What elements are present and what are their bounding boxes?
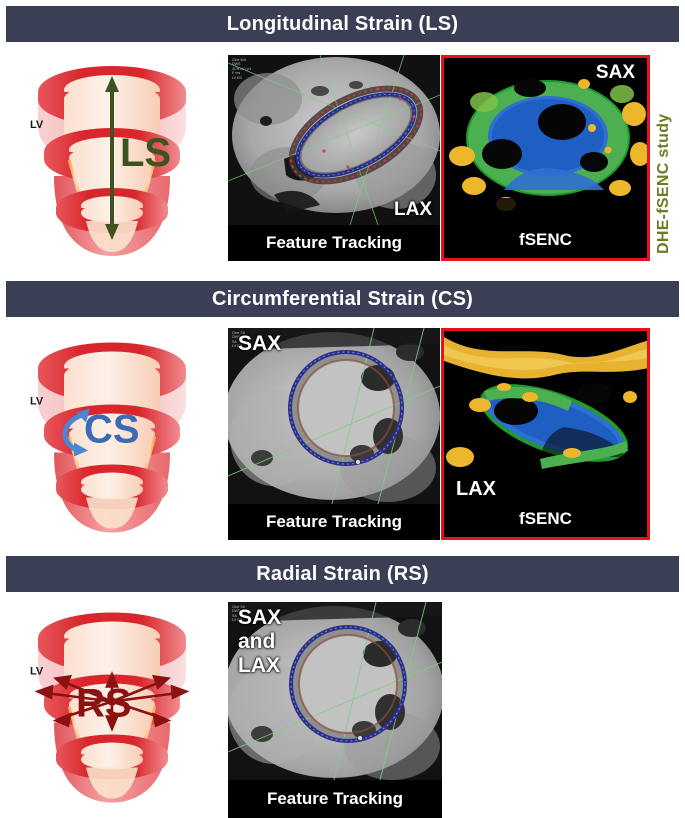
section-header-circumferential: Circumferential Strain (CS) — [6, 281, 679, 317]
dicom-overlay-text: Cine 4ch DWS 4CH LV / p1 P ms LV ED — [232, 58, 251, 80]
panel-caption-label: fSENC — [519, 230, 572, 250]
view-label-lax: LAX — [394, 199, 432, 221]
lv-model-svg: LV LS — [12, 56, 212, 261]
study-tag-label: DHE-fSENC study — [655, 64, 673, 254]
section-circumferential-strain: Circumferential Strain (CS) — [0, 275, 685, 550]
panel-feature-tracking-sax[interactable]: Cine SA DWS SA LV ED SAX Feature Trackin… — [228, 328, 440, 540]
panel-caption-label: Feature Tracking — [267, 789, 403, 809]
view-label-sax: SAX — [238, 332, 281, 356]
panel-fsenc-sax[interactable]: SAX fSENC — [441, 55, 650, 261]
lv-model-svg: LV RS — [12, 600, 212, 810]
strain-abbrev-label: LS — [120, 131, 171, 175]
section-radial-strain: Radial Strain (RS) — [0, 552, 685, 818]
fsenc-image-sax: SAX — [444, 58, 647, 228]
strain-abbrev-label: CS — [84, 408, 140, 452]
section-header-label: Circumferential Strain (CS) — [212, 288, 473, 311]
panel-caption-fsenc: fSENC — [444, 222, 647, 258]
lv-model-svg: LV CS — [12, 330, 212, 540]
panel-caption-feature-tracking: Feature Tracking — [228, 225, 440, 261]
panel-caption-feature-tracking: Feature Tracking — [228, 780, 442, 818]
view-label-lax: LAX — [456, 478, 496, 501]
panel-caption-label: Feature Tracking — [266, 512, 402, 532]
mri-image-lax: Cine 4ch DWS 4CH LV / p1 P ms LV ED LAX — [228, 55, 440, 225]
panel-feature-tracking-lax[interactable]: Cine 4ch DWS 4CH LV / p1 P ms LV ED LAX … — [228, 55, 440, 261]
panel-caption-label: fSENC — [519, 509, 572, 529]
mri-image-sax: Cine SA DWS SA LV ED SAX — [228, 328, 440, 504]
section-header-label: Radial Strain (RS) — [256, 563, 429, 586]
section-longitudinal-strain: Longitudinal Strain (LS) — [0, 0, 685, 272]
panel-caption-feature-tracking: Feature Tracking — [228, 504, 440, 540]
lv-label: LV — [30, 119, 44, 131]
panel-caption-fsenc: fSENC — [444, 501, 647, 537]
panel-caption-label: Feature Tracking — [266, 233, 402, 253]
heart-diagram-radial: LV RS — [12, 600, 212, 810]
panel-feature-tracking-sax-lax[interactable]: Cine SA DWS SA LV ED SAX and LAX Feature… — [228, 602, 442, 818]
heart-diagram-circumferential: LV CS — [12, 330, 212, 540]
strain-abbrev-label: RS — [76, 682, 132, 726]
section-header-radial: Radial Strain (RS) — [6, 556, 679, 592]
lv-label: LV — [30, 396, 44, 408]
view-label-sax: SAX — [596, 62, 635, 84]
panel-fsenc-lax[interactable]: LAX fSENC — [441, 328, 650, 540]
section-header-longitudinal: Longitudinal Strain (LS) — [6, 6, 679, 42]
section-header-label: Longitudinal Strain (LS) — [227, 13, 458, 36]
mri-image-sax-lax: Cine SA DWS SA LV ED SAX and LAX — [228, 602, 442, 780]
lv-label: LV — [30, 666, 44, 678]
view-label-sax-and-lax: SAX and LAX — [238, 606, 281, 678]
fsenc-image-lax: LAX — [444, 331, 647, 507]
heart-diagram-longitudinal: LV LS — [12, 56, 212, 261]
